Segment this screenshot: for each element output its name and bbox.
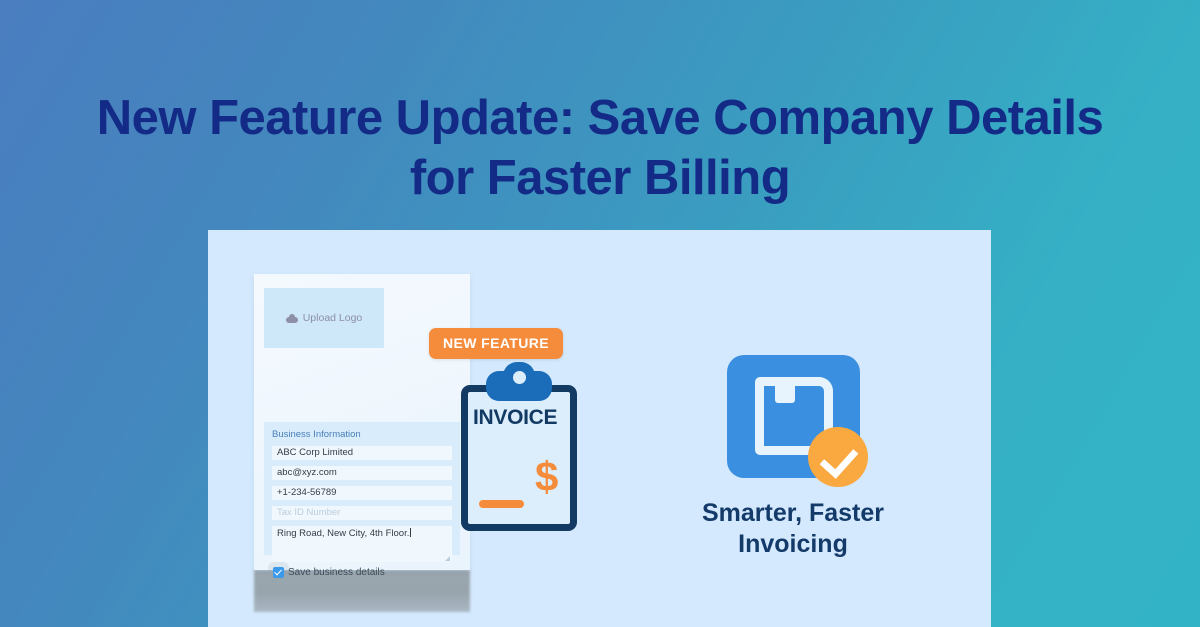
phone-field[interactable]: +1-234-56789: [272, 486, 452, 500]
floppy-shutter-icon: [775, 377, 795, 403]
page-title: New Feature Update: Save Company Details…: [0, 88, 1200, 208]
address-textarea[interactable]: Ring Road, New City, 4th Floor.: [272, 526, 452, 562]
check-circle-icon: [808, 427, 868, 487]
save-feature-caption: Smarter, Faster Invoicing: [628, 498, 958, 560]
company-name-field[interactable]: ABC Corp Limited: [272, 446, 452, 460]
cloud-upload-icon: [286, 314, 298, 323]
email-field[interactable]: abc@xyz.com: [272, 466, 452, 480]
business-form-card: Upload Logo Business Information ABC Cor…: [254, 274, 470, 570]
save-business-details-label: Save business details: [288, 567, 385, 578]
content-panel: Upload Logo Business Information ABC Cor…: [208, 230, 991, 627]
invoice-amount-bar: [479, 500, 524, 508]
save-business-details-row[interactable]: Save business details: [273, 567, 452, 578]
new-feature-badge: NEW FEATURE: [429, 328, 563, 359]
upload-logo-label: Upload Logo: [303, 312, 363, 324]
save-feature-caption-line1: Smarter, Faster: [628, 498, 958, 529]
business-information-heading: Business Information: [272, 429, 452, 440]
business-information-section: Business Information ABC Corp Limited ab…: [264, 422, 460, 555]
clipboard-clip-hole-icon: [513, 371, 526, 384]
address-text: Ring Road, New City, 4th Floor.: [277, 528, 409, 539]
upload-logo-dropzone[interactable]: Upload Logo: [264, 288, 384, 348]
text-caret: [410, 528, 411, 537]
floppy-save-icon: [727, 355, 860, 478]
save-feature-caption-line2: Invoicing: [628, 529, 958, 560]
invoice-title-text: INVOICE: [473, 406, 557, 430]
dollar-sign-icon: $: [535, 456, 558, 498]
save-feature-block: Smarter, Faster Invoicing: [628, 355, 958, 560]
save-business-details-checkbox[interactable]: [273, 567, 284, 578]
clipboard-invoice-illustration: INVOICE $: [451, 371, 586, 531]
tax-id-field[interactable]: Tax ID Number: [272, 506, 452, 520]
